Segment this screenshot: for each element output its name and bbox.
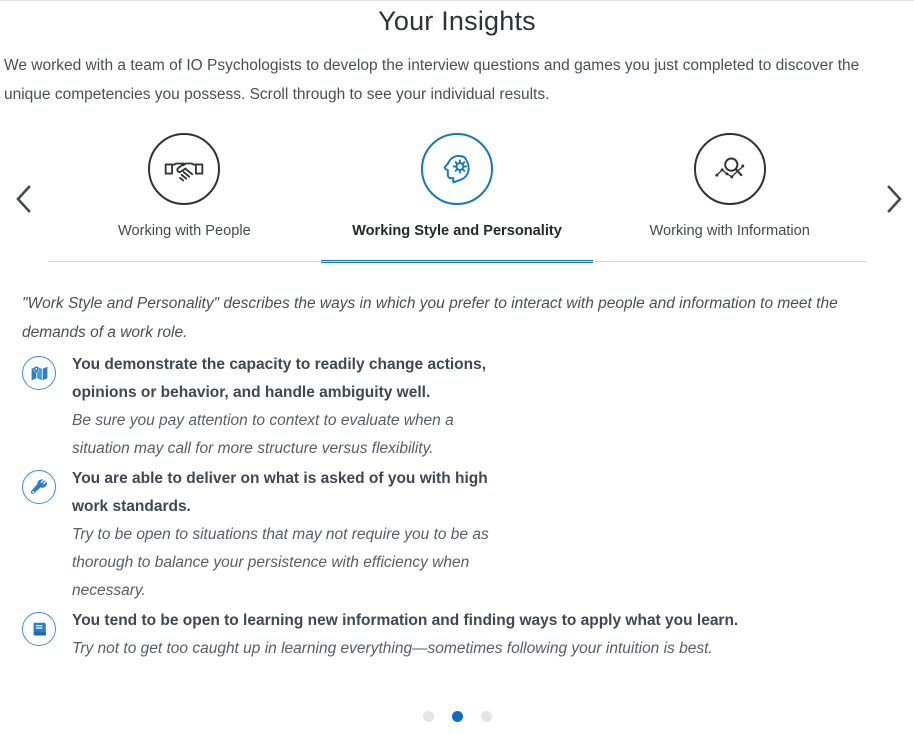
wrench-icon-glyph — [30, 478, 49, 497]
insight-title: You demonstrate the capacity to readily … — [72, 351, 502, 407]
insights-content: "Work Style and Personality" describes t… — [0, 289, 914, 663]
tab-working-style-and-personality[interactable]: Working Style and Personality — [321, 131, 594, 263]
tab-label: Working Style and Personality — [352, 223, 562, 239]
pagination-dot-2[interactable] — [452, 711, 463, 722]
map-pin-icon-glyph — [30, 364, 49, 383]
page-intro: We worked with a team of IO Psychologist… — [0, 51, 914, 109]
tab-icon-circle — [148, 133, 220, 205]
tab-icon-circle — [694, 133, 766, 205]
pagination-dot-1[interactable] — [423, 711, 434, 722]
chevron-left-icon — [10, 179, 38, 219]
chevron-right-icon — [880, 179, 908, 219]
map-pin-icon — [22, 356, 56, 390]
carousel-prev-button[interactable] — [10, 179, 38, 219]
insight-body: You tend to be open to learning new info… — [72, 607, 864, 663]
tab-working-with-information[interactable]: Working with Information — [593, 131, 866, 263]
insight-body: You demonstrate the capacity to readily … — [72, 351, 502, 463]
insights-page: Your Insights We worked with a team of I… — [0, 0, 914, 734]
page-title: Your Insights — [0, 1, 914, 37]
handshake-icon — [162, 147, 206, 191]
tab-list: Working with People — [48, 131, 866, 263]
tabs-divider — [48, 261, 866, 262]
category-carousel: Working with People — [0, 131, 914, 263]
insight-body: You are able to deliver on what is asked… — [72, 465, 502, 605]
carousel-pagination — [0, 711, 914, 722]
tab-label: Working with People — [118, 223, 251, 239]
insight-title: You tend to be open to learning new info… — [72, 607, 864, 635]
book-icon — [22, 612, 56, 646]
insight-tip: Be sure you pay attention to context to … — [72, 407, 502, 463]
insight-item: You tend to be open to learning new info… — [22, 607, 864, 663]
head-gear-icon — [437, 149, 477, 189]
category-description: "Work Style and Personality" describes t… — [22, 289, 864, 347]
insight-title: You are able to deliver on what is asked… — [72, 465, 502, 521]
magnifier-chart-icon — [709, 148, 751, 190]
insight-list: You demonstrate the capacity to readily … — [22, 351, 864, 663]
pagination-dot-3[interactable] — [481, 711, 492, 722]
tab-label: Working with Information — [650, 223, 810, 239]
book-icon-glyph — [30, 620, 49, 639]
tab-icon-circle — [421, 133, 493, 205]
wrench-icon — [22, 470, 56, 504]
carousel-next-button[interactable] — [880, 179, 908, 219]
insight-tip: Try not to get too caught up in learning… — [72, 635, 864, 663]
tab-working-with-people[interactable]: Working with People — [48, 131, 321, 263]
insight-item: You demonstrate the capacity to readily … — [22, 351, 864, 463]
insight-item: You are able to deliver on what is asked… — [22, 465, 864, 605]
insight-tip: Try to be open to situations that may no… — [72, 521, 502, 605]
